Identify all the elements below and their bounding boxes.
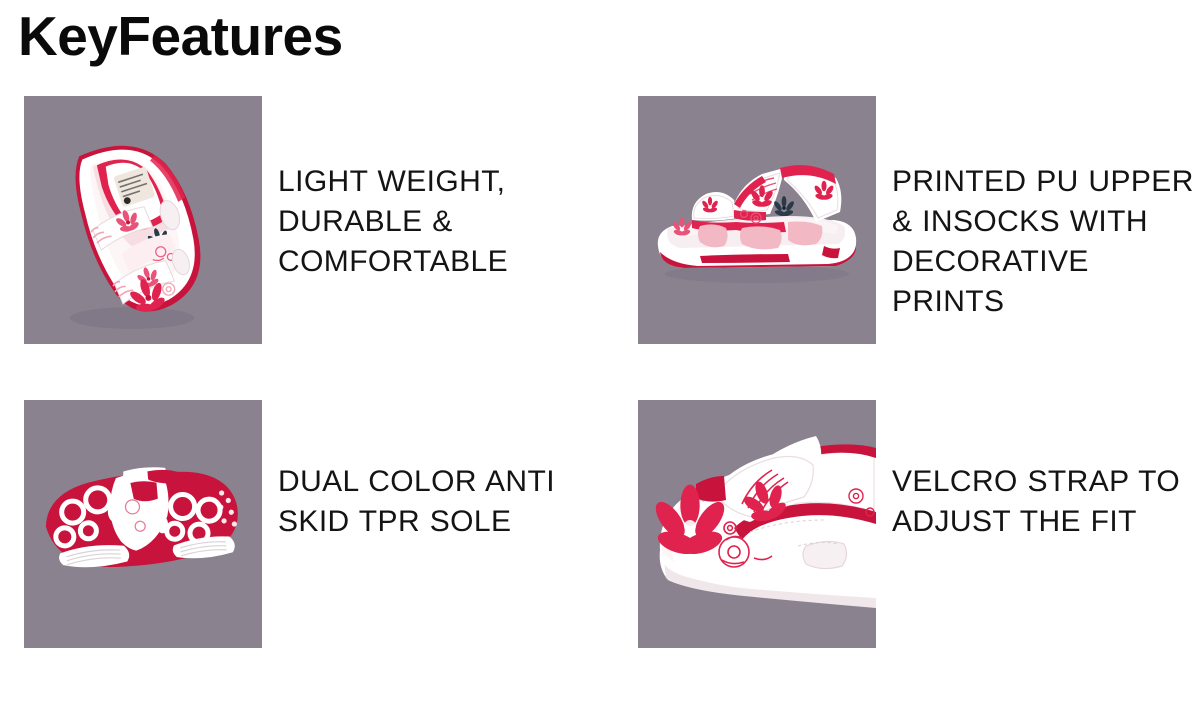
sandal-top-angle-view-illustration (24, 96, 262, 344)
feature-caption-printed-pu-upper: PRINTED PU UPPER & INSOCKS WITH DECORATI… (876, 96, 1200, 322)
sandal-outsole-view-illustration (24, 400, 262, 648)
sandal-side-profile-view-illustration (638, 96, 876, 344)
feature-cell-velcro-strap: VELCRO STRAP TO ADJUST THE FIT (600, 400, 1200, 704)
sandal-velcro-strap-closeup-illustration (638, 400, 876, 648)
sandal-velcro-strap-closeup-photo (638, 400, 876, 648)
features-row-bottom: DUAL COLOR ANTI SKID TPR SOLE (0, 400, 1200, 704)
feature-caption-light-weight: LIGHT WEIGHT, DURABLE & COMFORTABLE (262, 96, 600, 282)
features-row-top: LIGHT WEIGHT, DURABLE & COMFORTABLE (0, 96, 1200, 400)
feature-caption-velcro-strap: VELCRO STRAP TO ADJUST THE FIT (876, 400, 1200, 542)
sandal-side-profile-view-photo (638, 96, 876, 344)
feature-cell-light-weight: LIGHT WEIGHT, DURABLE & COMFORTABLE (0, 96, 600, 400)
feature-cell-anti-skid-sole: DUAL COLOR ANTI SKID TPR SOLE (0, 400, 600, 704)
page-title: KeyFeatures (18, 8, 343, 66)
sandal-top-angle-view-photo (24, 96, 262, 344)
sandal-outsole-view-photo (24, 400, 262, 648)
features-grid: LIGHT WEIGHT, DURABLE & COMFORTABLE (0, 96, 1200, 704)
feature-caption-anti-skid-sole: DUAL COLOR ANTI SKID TPR SOLE (262, 400, 600, 542)
feature-cell-printed-pu-upper: PRINTED PU UPPER & INSOCKS WITH DECORATI… (600, 96, 1200, 400)
